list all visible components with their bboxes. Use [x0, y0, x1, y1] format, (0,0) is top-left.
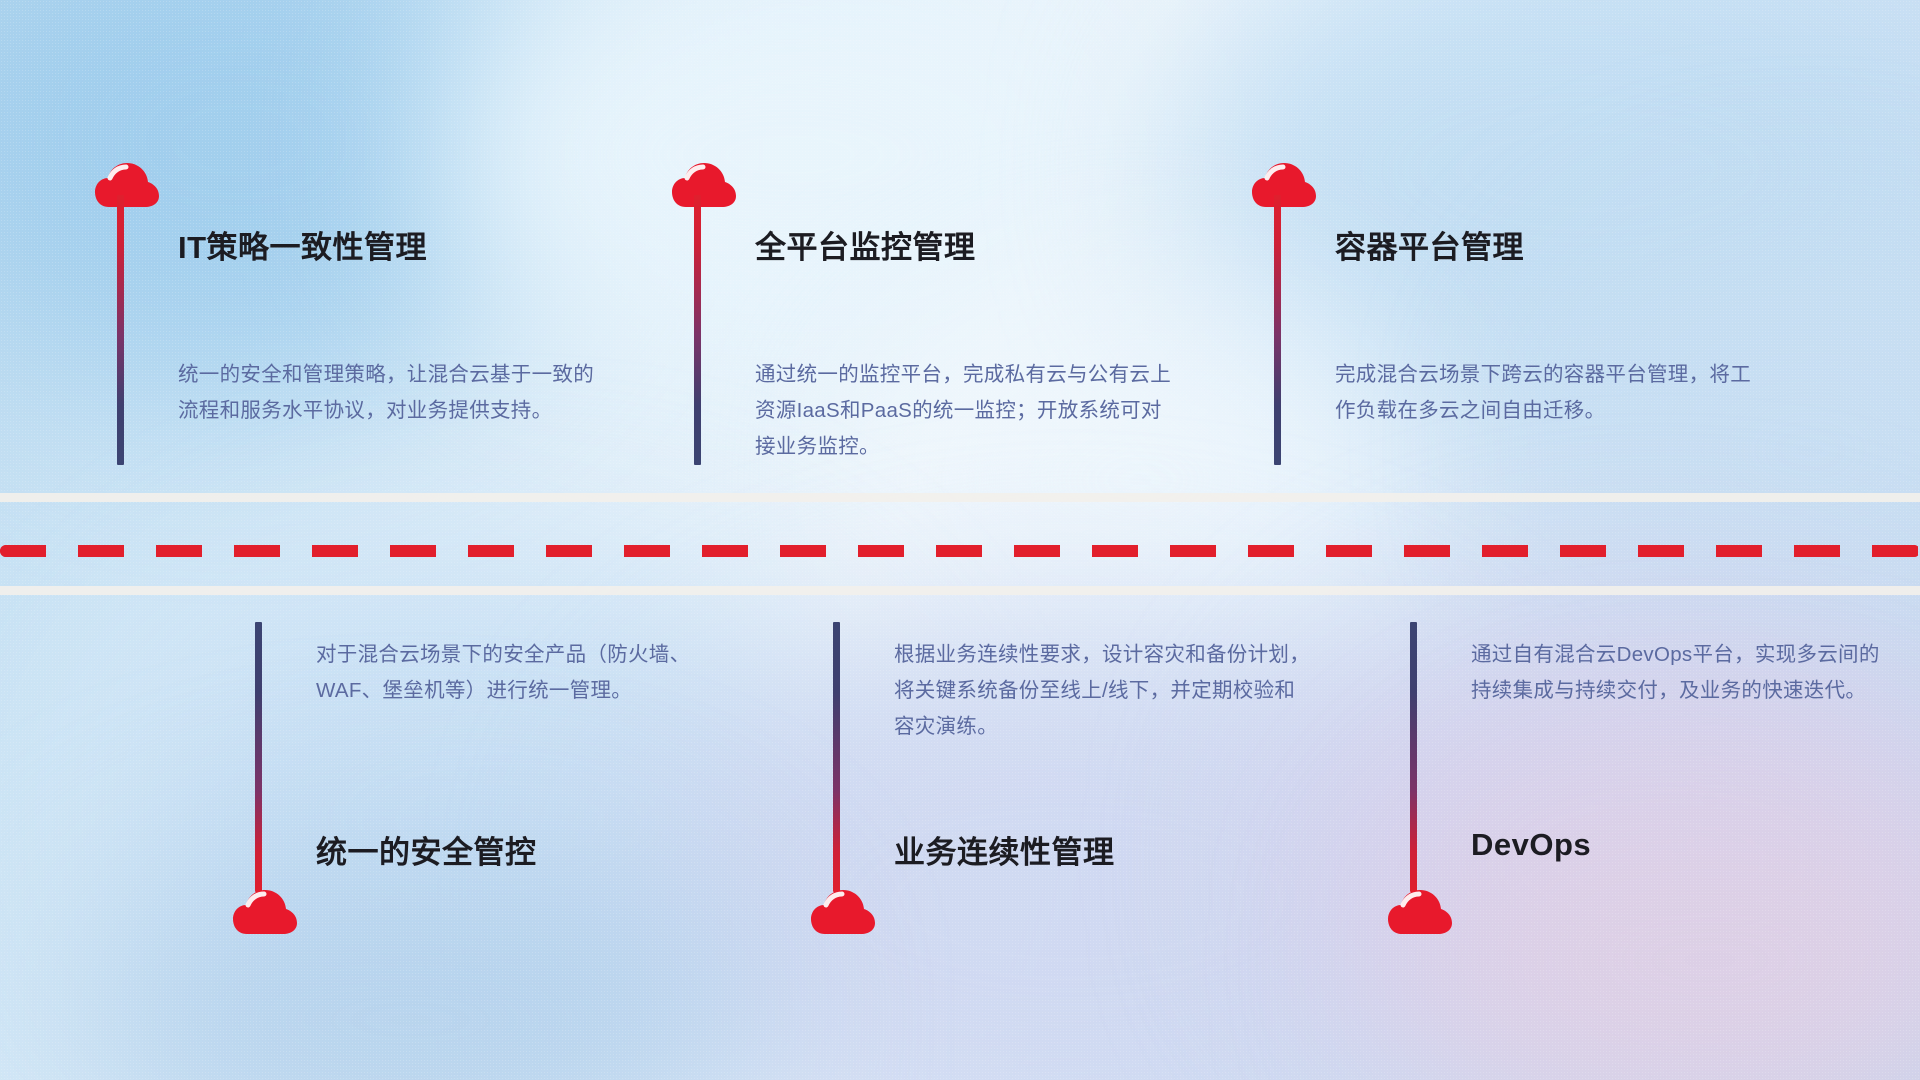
feature-description: 根据业务连续性要求，设计容灾和备份计划，将关键系统备份至线上/线下，并定期校验和…	[894, 637, 1314, 745]
cloud-icon	[811, 890, 875, 936]
connector-line	[1410, 622, 1417, 892]
feature-title: 容器平台管理	[1335, 222, 1524, 267]
cloud-icon	[1388, 890, 1452, 936]
cloud-icon	[95, 163, 159, 209]
connector-line	[1274, 195, 1281, 465]
connector-line	[117, 195, 124, 465]
feature-description: 统一的安全和管理策略，让混合云基于一致的流程和服务水平协议，对业务提供支持。	[178, 357, 598, 429]
connector-line	[255, 622, 262, 892]
feature-title: IT策略一致性管理	[178, 222, 427, 267]
feature-title: DevOps	[1471, 827, 1591, 863]
feature-title: 业务连续性管理	[894, 827, 1115, 872]
connector-line	[833, 622, 840, 892]
divider-band-bottom	[0, 586, 1920, 595]
feature-description: 通过统一的监控平台，完成私有云与公有云上资源IaaS和PaaS的统一监控；开放系…	[755, 357, 1175, 465]
feature-title: 统一的安全管控	[316, 827, 537, 872]
cloud-icon	[1252, 163, 1316, 209]
feature-description: 对于混合云场景下的安全产品（防火墙、WAF、堡垒机等）进行统一管理。	[316, 637, 736, 709]
dashed-red-separator	[0, 545, 1920, 557]
divider-band-top	[0, 493, 1920, 502]
feature-description: 完成混合云场景下跨云的容器平台管理，将工作负载在多云之间自由迁移。	[1335, 357, 1755, 429]
cloud-icon	[233, 890, 297, 936]
connector-line	[694, 195, 701, 465]
infographic-canvas: IT策略一致性管理 统一的安全和管理策略，让混合云基于一致的流程和服务水平协议，…	[0, 0, 1920, 1080]
cloud-icon	[672, 163, 736, 209]
feature-title: 全平台监控管理	[755, 222, 976, 267]
feature-description: 通过自有混合云DevOps平台，实现多云间的持续集成与持续交付，及业务的快速迭代…	[1471, 637, 1891, 709]
